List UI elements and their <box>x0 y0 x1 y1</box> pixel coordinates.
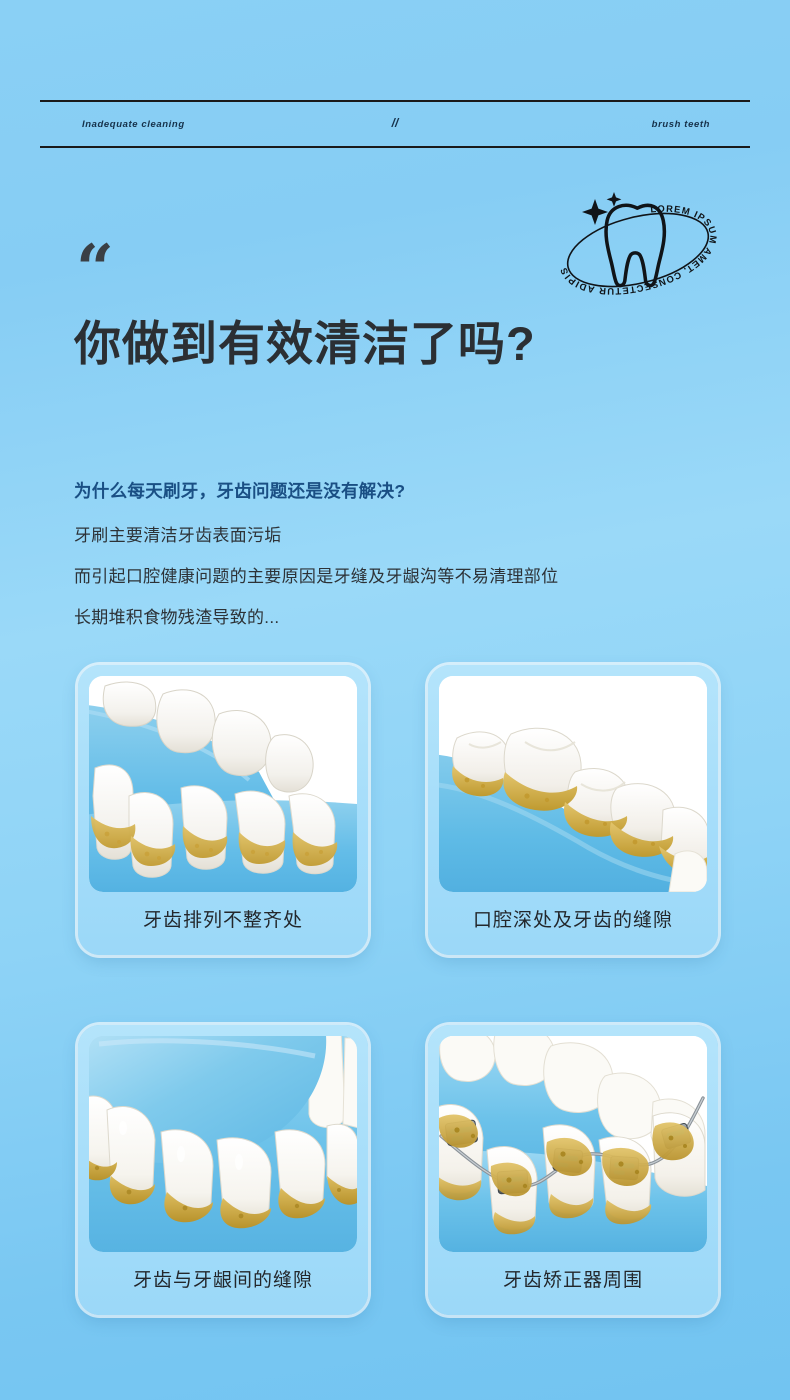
braces-photo <box>439 1036 707 1252</box>
page-title: 你做到有效清洁了吗? <box>74 316 674 371</box>
quote-mark: “ <box>76 236 111 302</box>
header-divider-label: // <box>392 116 399 130</box>
copy-line-2: 而引起口腔健康问题的主要原因是牙缝及牙龈沟等不易清理部位 <box>74 562 714 587</box>
problem-card[interactable]: 口腔深处及牙齿的缝隙 <box>428 665 718 955</box>
badge-ring-text: LOREM IPSUM AMET, CONSECTETUR ADIPISCING <box>548 182 719 297</box>
intro-copy: 为什么每天刷牙，牙齿问题还是没有解决? 牙刷主要清洁牙齿表面污垢 而引起口腔健康… <box>74 478 714 644</box>
problem-card[interactable]: 牙齿矫正器周围 <box>428 1025 718 1315</box>
problem-card[interactable]: 牙齿与牙龈间的缝隙 <box>78 1025 368 1315</box>
header-right-label: brush teeth <box>652 119 710 130</box>
header-rule-bottom <box>40 146 750 148</box>
card-caption: 牙齿矫正器周围 <box>439 1252 707 1304</box>
copy-line-1: 牙刷主要清洁牙齿表面污垢 <box>74 521 714 546</box>
problem-card[interactable]: 牙齿排列不整齐处 <box>78 665 368 955</box>
page-root: Inadequate cleaning // brush teeth LOREM <box>0 0 790 1400</box>
copy-line-3: 长期堆积食物残渣导致的... <box>74 603 714 628</box>
page-header: Inadequate cleaning // brush teeth <box>40 100 750 150</box>
card-caption: 口腔深处及牙齿的缝隙 <box>439 892 707 944</box>
header-left-label: Inadequate cleaning <box>82 119 185 130</box>
back-molars-photo <box>439 676 707 892</box>
crooked-teeth-photo <box>89 676 357 892</box>
card-caption: 牙齿与牙龈间的缝隙 <box>89 1252 357 1304</box>
card-caption: 牙齿排列不整齐处 <box>89 892 357 944</box>
gumline-gap-photo <box>89 1036 357 1252</box>
brand-badge: LOREM IPSUM AMET, CONSECTETUR ADIPISCING <box>548 182 724 310</box>
copy-lead: 为什么每天刷牙，牙齿问题还是没有解决? <box>74 478 714 503</box>
